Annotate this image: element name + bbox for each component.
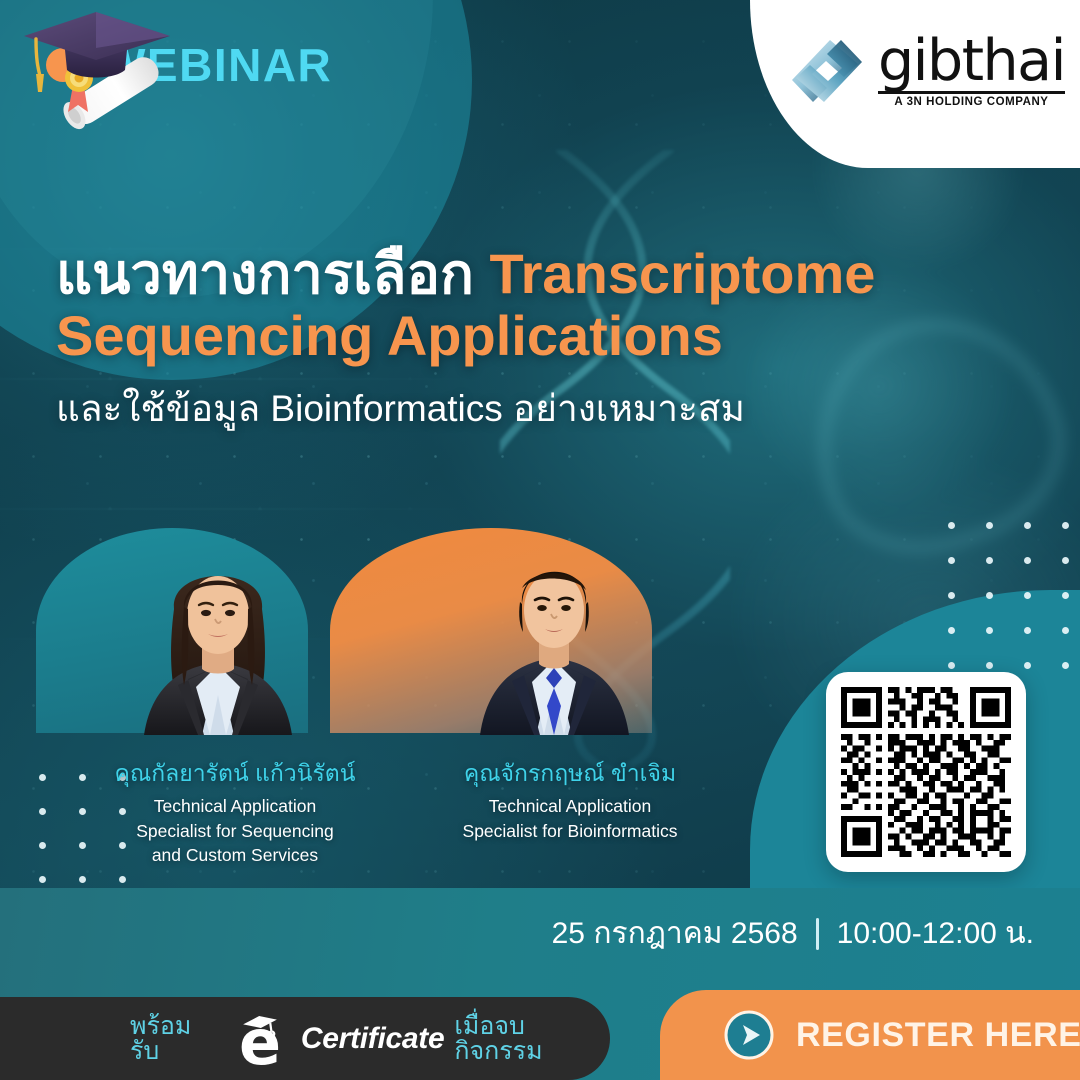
headline-block: แนวทางการเลือก Transcriptome Sequencing … [56, 243, 986, 432]
speaker-role-left-line1: Technical Application [70, 794, 400, 819]
speaker-role-right-line1: Technical Application [405, 794, 735, 819]
play-circle-icon [724, 1010, 774, 1060]
speaker-photo-male [452, 528, 657, 735]
headline-accent-part-1: Transcriptome [490, 242, 876, 305]
speaker-role-right-line2: Specialist for Bioinformatics [405, 819, 735, 844]
brand-name: gibthai [878, 34, 1065, 88]
webinar-poster: WEBINAR [0, 0, 1080, 1080]
event-date: 25 กรกฎาคม 2568 [552, 910, 798, 957]
speaker-info-right: คุณจักรกฤษณ์ ขำเจิม Technical Applicatio… [405, 758, 735, 843]
brand-tagline: A 3N HOLDING COMPANY [878, 96, 1065, 108]
qr-code-icon [841, 687, 1011, 857]
headline-subtitle: และใช้ข้อมูล Bioinformatics อย่างเหมาะสม [56, 386, 986, 432]
speaker-name-right: คุณจักรกฤษณ์ ขำเจิม [405, 758, 735, 789]
certificate-suffix-label: เมื่อจบกิจกรรม [454, 1014, 610, 1064]
gibthai-swirl-icon [786, 30, 868, 112]
certificate-prefix-label: พร้อมรับ [130, 1014, 219, 1064]
event-time: 10:00-12:00 น. [837, 910, 1034, 957]
logo-divider [878, 91, 1065, 94]
headline-line-2: Sequencing Applications [56, 305, 986, 367]
speaker-role-left-line2: Specialist for Sequencing [70, 819, 400, 844]
register-button-label: REGISTER HERE [796, 1016, 1080, 1055]
register-button[interactable]: REGISTER HERE [660, 990, 1080, 1080]
e-certificate-icon: e [229, 1008, 291, 1070]
speaker-name-left: คุณกัลยารัตน์ แก้วนิรัตน์ [70, 758, 400, 789]
certificate-word-label: Certificate [301, 1022, 444, 1056]
decorative-dot-grid-right [932, 508, 1080, 683]
speaker-role-left-line3: and Custom Services [70, 843, 400, 868]
e-certificate-banner: พร้อมรับ e Certificate เมื่อจบกิจกรรม [0, 997, 610, 1080]
headline-thai-part: แนวทางการเลือก [56, 242, 474, 305]
speaker-info-left: คุณกัลยารัตน์ แก้วนิรัตน์ Technical Appl… [70, 758, 400, 868]
headline-line-1: แนวทางการเลือก Transcriptome [56, 243, 986, 305]
registration-qr-code[interactable] [826, 672, 1026, 872]
schedule-divider [816, 918, 819, 950]
graduation-cap-diploma-icon [18, 6, 198, 131]
schedule-info: 25 กรกฎาคม 2568 10:00-12:00 น. [552, 910, 1034, 957]
speaker-photo-female [118, 535, 318, 735]
